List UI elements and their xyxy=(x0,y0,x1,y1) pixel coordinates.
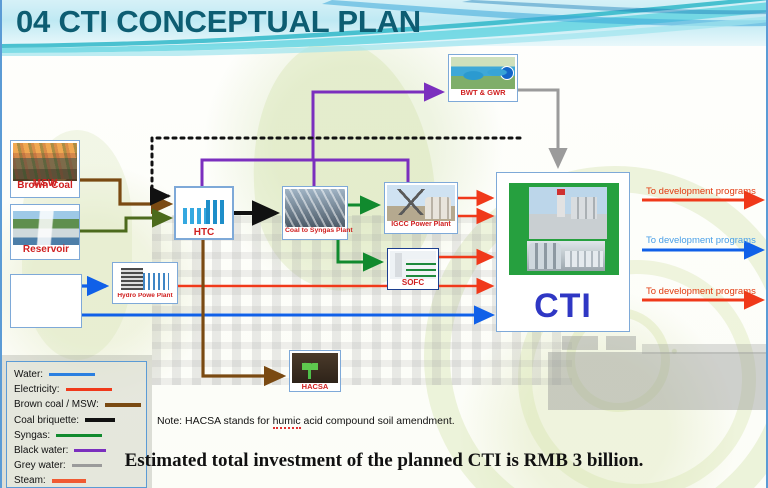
background-grey-chip-3 xyxy=(642,344,768,354)
slide-header: 04 CTI CONCEPTUAL PLAN xyxy=(2,0,768,56)
legend-item: Steam: xyxy=(14,473,146,488)
node-label: SOFC xyxy=(390,279,436,287)
node-label: Reservoir xyxy=(13,245,79,256)
hydro-plant-thumbnail-icon xyxy=(115,265,175,293)
cti-plant-illustration-icon xyxy=(529,187,607,239)
output-label-1: To development programs xyxy=(646,186,756,197)
page-title: 04 CTI CONCEPTUAL PLAN xyxy=(16,0,421,44)
legend-label: Brown coal / MSW: xyxy=(14,399,99,410)
legend-label: Coal briquette: xyxy=(14,415,79,426)
legend-item: Coal briquette: xyxy=(14,413,146,428)
node-igcc-power-plant[interactable]: IGCC Power Plant xyxy=(384,182,458,234)
output-label-2: To development programs xyxy=(646,235,756,246)
legend-item: Brown coal / MSW: xyxy=(14,397,146,412)
note-suffix: acid compound soil amendment. xyxy=(301,415,455,427)
recycle-badge-icon xyxy=(500,66,514,80)
node-label: Hydro Powe Plant xyxy=(115,293,175,300)
node-label: HTC xyxy=(178,228,230,239)
note-prefix: Note: HACSA stands for xyxy=(157,415,273,427)
cti-image-panel xyxy=(509,183,619,275)
node-coal-to-syngas-plant[interactable]: Coal to Syngas Plant xyxy=(282,186,348,240)
htc-thumbnail-icon xyxy=(178,190,230,228)
node-label: Coal to Syngas Plant xyxy=(285,227,345,234)
node-cti-main[interactable]: CTI xyxy=(496,172,630,332)
bwt-gwr-thumbnail-icon xyxy=(451,57,515,89)
legend-label: Steam: xyxy=(14,475,46,486)
node-hydro-power-plant[interactable]: Hydro Powe Plant xyxy=(112,262,178,304)
cti-facility-illustration-icon xyxy=(527,241,605,271)
background-grey-panel-right xyxy=(548,352,768,410)
node-label: IGCC Power Plant xyxy=(387,221,455,228)
node-htc[interactable]: HTC xyxy=(174,186,234,240)
legend-swatch-electricity xyxy=(66,388,112,391)
igcc-thumbnail-icon xyxy=(387,185,455,221)
investment-statement: Estimated total investment of the planne… xyxy=(2,450,766,472)
node-bwt-gwr[interactable]: BWT & GWR xyxy=(448,54,518,102)
note-text: Note: HACSA stands for humic acid compou… xyxy=(157,415,455,427)
node-label: HACSA xyxy=(292,383,338,391)
slide-canvas: 04 CTI CONCEPTUAL PLAN xyxy=(0,0,768,488)
legend-item: Syngas: xyxy=(14,428,146,443)
syngas-plant-thumbnail-icon xyxy=(285,189,345,227)
reservoir-thumbnail-icon xyxy=(13,211,79,245)
legend-swatch-syngas xyxy=(56,434,102,437)
legend-label: Syngas: xyxy=(14,430,50,441)
legend-item: Water: xyxy=(14,367,146,382)
hacsa-thumbnail-icon xyxy=(292,353,338,383)
output-label-3: To development programs xyxy=(646,286,756,297)
node-reservoir[interactable]: Reservoir xyxy=(10,274,82,328)
node-hacsa[interactable]: HACSA xyxy=(289,350,341,392)
sofc-thumbnail-icon xyxy=(390,251,436,279)
legend-swatch-coal-briquette xyxy=(85,418,115,422)
note-underlined-term: humic xyxy=(273,415,301,429)
legend-item: Electricity: xyxy=(14,382,146,397)
legend-swatch-water xyxy=(49,373,95,376)
legend-label: Water: xyxy=(14,369,43,380)
legend-swatch-brown-coal-msw xyxy=(105,403,141,406)
cti-label: CTI xyxy=(497,287,629,325)
node-label: MSW xyxy=(13,179,77,190)
legend-label: Electricity: xyxy=(14,384,60,395)
msw-thumbnail-icon xyxy=(13,143,77,179)
background-grey-chip-1 xyxy=(562,336,598,350)
legend-swatch-steam xyxy=(52,479,86,482)
node-label: BWT & GWR xyxy=(451,89,515,97)
node-sofc[interactable]: SOFC xyxy=(387,248,439,290)
background-grey-chip-2 xyxy=(606,336,636,350)
